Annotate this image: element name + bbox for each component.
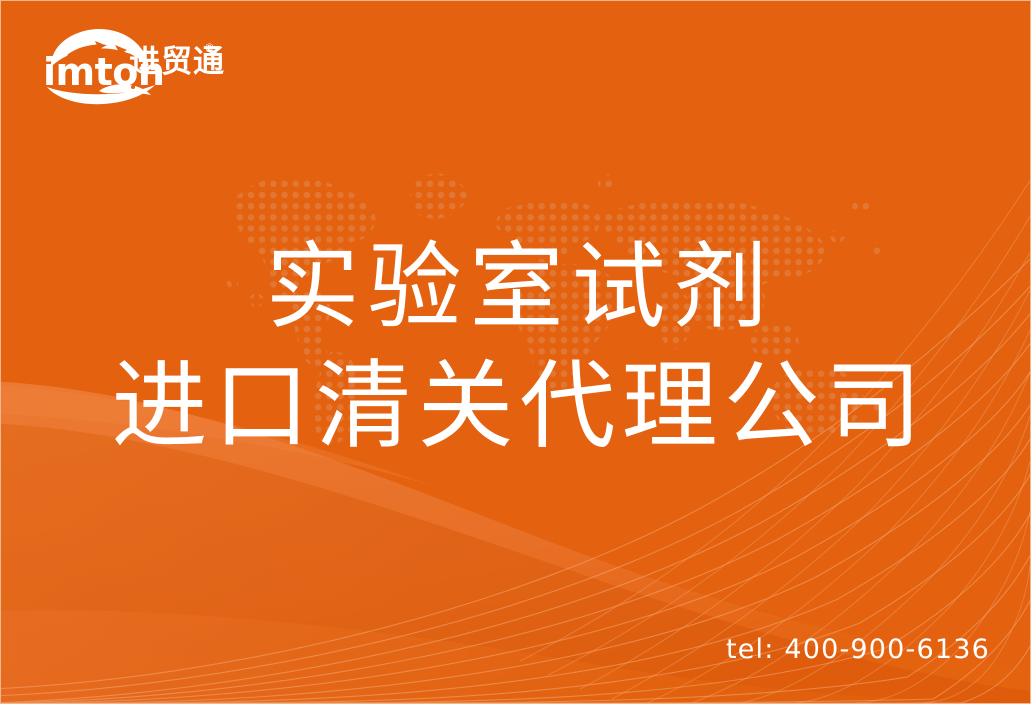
- headline-line-2: 进口清关代理公司: [1, 347, 1031, 465]
- headline-block: 实验室试剂 进口清关代理公司: [1, 229, 1031, 465]
- contact-phone: tel: 400-900-6136: [726, 635, 990, 665]
- registered-trademark-icon: ®: [204, 41, 215, 54]
- headline-line-1: 实验室试剂: [1, 229, 1031, 347]
- poster-canvas: imton 进贸通 ® 实验室试剂 进口清关代理公司 tel: 400-900-…: [0, 0, 1031, 704]
